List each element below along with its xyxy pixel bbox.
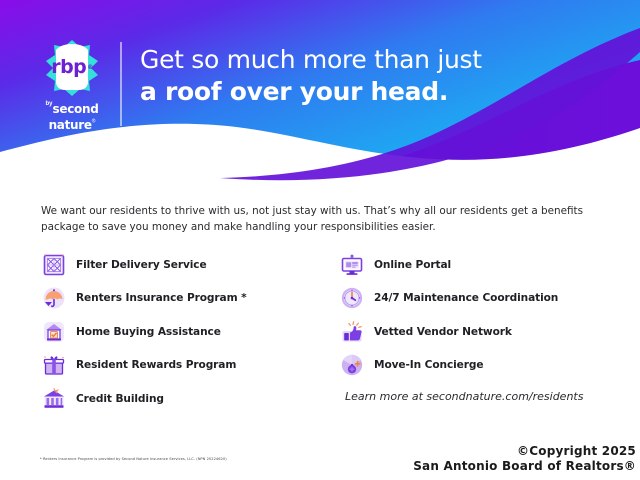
rbp-wordmark-text: rbp — [51, 56, 86, 78]
benefit-label: Move-In Concierge — [374, 359, 483, 371]
benefit-item: Online Portal — [339, 248, 601, 282]
benefit-item: Credit Building — [41, 382, 321, 416]
benefit-item: Filter Delivery Service — [41, 248, 321, 282]
gift-icon — [41, 352, 67, 378]
intro-paragraph: We want our residents to thrive with us,… — [41, 203, 601, 235]
logo-second-text: second — [53, 102, 99, 116]
benefits-section: Filter Delivery Service Renters Insuranc… — [41, 248, 601, 416]
logo-nature-text: nature — [49, 118, 92, 132]
rbp-badge-icon: rbp® — [43, 38, 101, 96]
umbrella-icon — [41, 285, 67, 311]
second-nature-wordmark: bysecond nature® — [46, 101, 99, 133]
learn-more-link[interactable]: Learn more at secondnature.com/residents — [339, 390, 601, 403]
watermark-line-2: San Antonio Board of Realtors® — [413, 459, 636, 474]
rbp-wordmark: rbp® — [43, 38, 101, 96]
benefit-item: Home Buying Assistance — [41, 315, 321, 349]
logo-divider — [120, 42, 122, 126]
headline: Get so much more than just a roof over y… — [140, 44, 560, 108]
disclaimer-text: * Renters Insurance Program is provided … — [40, 457, 227, 461]
headline-line-1: Get so much more than just — [140, 44, 560, 76]
compass-icon — [339, 352, 365, 378]
watermark-line-1: ©Copyright 2025 — [413, 444, 636, 459]
flyer-canvas: rbp® bysecond nature® Get so much more t… — [0, 0, 640, 480]
clock-icon — [339, 285, 365, 311]
monitor-icon — [339, 252, 365, 278]
benefit-item: Vetted Vendor Network — [339, 315, 601, 349]
thumbs-up-icon — [339, 319, 365, 345]
benefit-label: Online Portal — [374, 259, 451, 271]
logo-registered-mark: ® — [92, 119, 96, 125]
logo-by-text: by — [46, 101, 53, 107]
benefit-label: Filter Delivery Service — [76, 259, 207, 271]
headline-line-2: a roof over your head. — [140, 76, 560, 108]
filter-icon — [41, 252, 67, 278]
benefits-left-column: Filter Delivery Service Renters Insuranc… — [41, 248, 321, 416]
benefit-label: Resident Rewards Program — [76, 359, 236, 371]
benefit-item: Renters Insurance Program * — [41, 282, 321, 316]
benefit-label: Home Buying Assistance — [76, 326, 221, 338]
benefit-item: Move-In Concierge — [339, 349, 601, 383]
bank-icon — [41, 386, 67, 412]
benefit-item: 24/7 Maintenance Coordination — [339, 282, 601, 316]
house-check-icon — [41, 319, 67, 345]
benefit-label: 24/7 Maintenance Coordination — [374, 292, 558, 304]
benefit-label: Vetted Vendor Network — [374, 326, 512, 338]
header-banner: rbp® bysecond nature® Get so much more t… — [0, 0, 640, 190]
benefit-label: Credit Building — [76, 393, 164, 405]
benefits-right-column: Online Portal — [321, 248, 601, 416]
rbp-logo-lockup: rbp® bysecond nature® — [36, 38, 108, 128]
rbp-trademark: ® — [87, 64, 93, 71]
copyright-watermark: ©Copyright 2025 San Antonio Board of Rea… — [413, 444, 636, 473]
benefit-label: Renters Insurance Program * — [76, 292, 247, 304]
benefit-item: Resident Rewards Program — [41, 349, 321, 383]
